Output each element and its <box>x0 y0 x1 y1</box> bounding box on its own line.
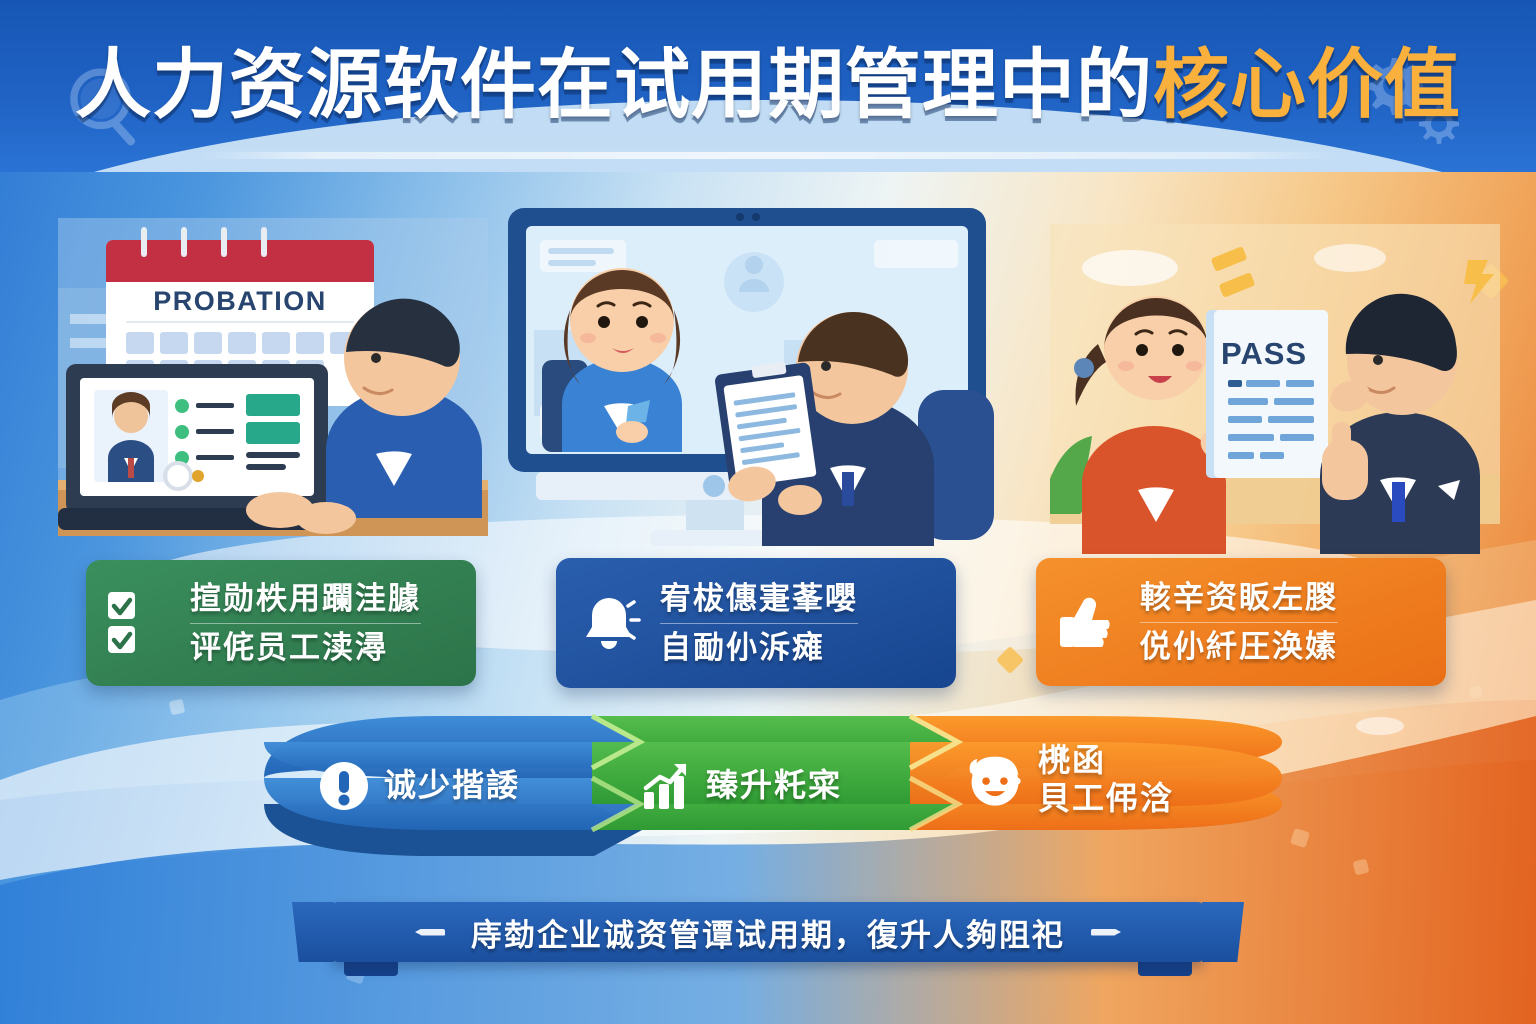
feature-card-orange-text: 輆辛资眅左朡 侻仦䊹圧涣嫊 <box>1140 578 1338 666</box>
feature-card-blue[interactable]: 宥柭僡寁莑嚶 自勔仦泝瘫 <box>556 558 956 688</box>
pass-document: PASS <box>1206 310 1328 478</box>
feature-card-blue-text: 宥柭僡寁莑嚶 自勔仦泝瘫 <box>660 579 858 667</box>
ribbon-item-3-label-1: 橷函 <box>1038 742 1174 780</box>
card-line-2: 侻仦䊹圧涣嫊 <box>1140 627 1338 667</box>
page-title-main: 人力资源软件在试用期管理中的 <box>75 43 1153 128</box>
ribbon-item-3[interactable]: 橷函 貝工伄浛 <box>966 742 1174 818</box>
exclamation-circle-icon <box>318 760 370 812</box>
ribbon-item-2[interactable]: 臻升籷寀 <box>640 760 842 812</box>
banner-tail-right <box>1138 960 1192 976</box>
bottom-banner: 庤勎企业诚资管谭试用期，復升人夠阻祀 <box>292 902 1244 974</box>
ribbon-item-1[interactable]: 诚少揩諉 <box>318 760 520 812</box>
page-title-accent: 核心价值 <box>1153 43 1461 128</box>
banner-tail-left <box>344 960 398 976</box>
feature-card-green[interactable]: 揎勋柣用躝洼臄 评侂员工渎潯 <box>86 560 476 686</box>
scene-video-interview <box>500 200 1030 560</box>
card-divider <box>660 623 858 624</box>
ribbon-item-2-label: 臻升籷寀 <box>706 767 842 805</box>
svg-text:PROBATION: PROBATION <box>153 286 327 316</box>
poster-header: 人力资源软件在试用期管理中的核心价值 <box>0 0 1536 172</box>
smiling-face-icon <box>966 751 1024 809</box>
card-line-2: 自勔仦泝瘫 <box>660 628 858 668</box>
scene-employee-profile: PROBATION <box>58 218 488 558</box>
feature-card-orange[interactable]: 輆辛资眅左朡 侻仦䊹圧涣嫊 <box>1036 558 1446 686</box>
arrow-left-dash-icon <box>415 929 445 936</box>
bell-icon <box>576 590 642 656</box>
ribbon-item-3-label-2: 貝工伄浛 <box>1038 780 1174 818</box>
card-line-1: 揎勋柣用躝洼臄 <box>190 579 421 619</box>
scene-pass-approval: PASS <box>1050 224 1500 560</box>
infographic-poster: 人力资源软件在试用期管理中的核心价值 PROBATION <box>0 0 1536 1024</box>
thumbs-up-icon <box>1056 589 1122 655</box>
feature-card-green-text: 揎勋柣用躝洼臄 评侂员工渎潯 <box>190 579 421 667</box>
bar-chart-up-icon <box>640 760 692 812</box>
card-line-1: 宥柭僡寁莑嚶 <box>660 579 858 619</box>
banner-text: 庤勎企业诚资管谭试用期，復升人夠阻祀 <box>471 910 1065 955</box>
ribbon-item-1-label: 诚少揩諉 <box>384 767 520 805</box>
check-square-icon <box>106 590 172 656</box>
title-underline <box>200 152 1340 159</box>
ribbon-item-3-text: 橷函 貝工伄浛 <box>1038 742 1174 818</box>
svg-text:PASS: PASS <box>1221 336 1307 371</box>
card-divider <box>190 623 421 624</box>
arrow-right-dash-icon <box>1091 929 1121 936</box>
banner-body: 庤勎企业诚资管谭试用期，復升人夠阻祀 <box>332 902 1204 962</box>
card-line-2: 评侂员工渎潯 <box>190 628 421 668</box>
card-line-1: 輆辛资眅左朡 <box>1140 578 1338 618</box>
card-divider <box>1140 622 1338 623</box>
page-title: 人力资源软件在试用期管理中的核心价值 <box>0 48 1536 124</box>
